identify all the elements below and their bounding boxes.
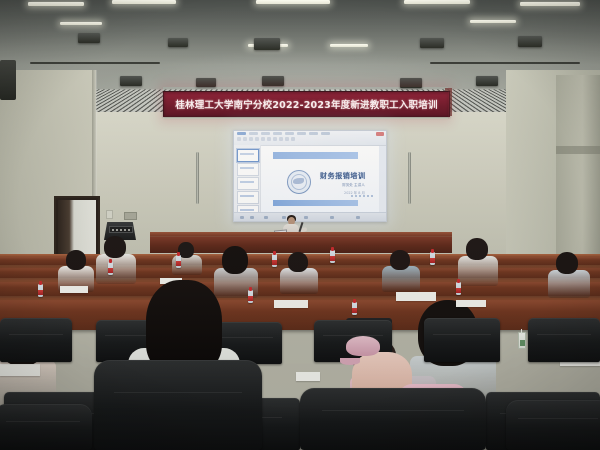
- paper-document: [396, 292, 436, 301]
- water-bottle: [272, 254, 277, 267]
- water-bottle: [430, 252, 435, 265]
- ppt-tab: [261, 132, 270, 135]
- slide-subtitle-2: 2022 年 8 月: [344, 190, 365, 195]
- screen-rail-left: [196, 152, 199, 204]
- ceiling-light-icon: [520, 2, 580, 6]
- status-icon: [282, 216, 286, 219]
- ceiling-projector-icon: [254, 38, 280, 50]
- water-bottle: [38, 284, 43, 297]
- attendee-row3-c-head: [390, 250, 410, 270]
- ppt-tab: [309, 132, 318, 135]
- ceiling-speaker-icon: [168, 38, 188, 47]
- decor-dot: [363, 195, 366, 198]
- pink-cap: [346, 336, 380, 356]
- status-icon: [356, 216, 360, 219]
- ppt-tab: [285, 132, 294, 135]
- water-bottle: [108, 262, 113, 275]
- toolbar-icon: [273, 137, 277, 141]
- ceiling-light-icon: [404, 0, 470, 4]
- ppt-ribbon: [234, 131, 386, 146]
- slide-thumbnail: [237, 163, 259, 176]
- attendee-row2-right-head: [466, 238, 488, 260]
- ceiling-light-icon: [28, 2, 84, 6]
- ceiling-speaker-icon: [476, 76, 498, 86]
- seal-emblem: [293, 178, 304, 184]
- right-column-ledge: [556, 146, 600, 154]
- wall-speaker-icon: [0, 60, 16, 100]
- wall-outlet-plate: [124, 212, 137, 220]
- attendee-row2-right-body: [458, 256, 498, 286]
- slide-thumbnail: [237, 191, 259, 204]
- ceiling-speaker-icon: [420, 38, 444, 48]
- paper-document: [456, 300, 486, 307]
- status-icon: [250, 216, 254, 219]
- chair[interactable]: [528, 318, 600, 362]
- toolbar-icon: [279, 137, 283, 141]
- pink-cap-brim: [340, 358, 360, 365]
- ppt-tab: [297, 132, 306, 135]
- decor-dot: [371, 195, 374, 198]
- attendee-row2-left-head: [104, 236, 126, 258]
- slide-decor-dots: [351, 195, 374, 198]
- water-bottle: [352, 302, 357, 315]
- ppt-slide-panel: [234, 145, 261, 213]
- water-bottle: [176, 255, 181, 268]
- thumb-bar: [240, 195, 254, 197]
- foreground-chair[interactable]: [506, 400, 600, 450]
- water-bottle: [248, 290, 253, 303]
- ceiling-light-icon: [470, 20, 516, 23]
- toolbar-icon: [255, 137, 259, 141]
- ppt-tab: [321, 132, 330, 135]
- paper-document: [60, 286, 88, 293]
- university-seal-icon: [287, 170, 311, 194]
- screen-rail-right: [408, 152, 411, 204]
- thumb-bar: [240, 153, 254, 155]
- slide-subtitle-1: 财务处 主讲人: [342, 183, 365, 188]
- slide-bottom-accent-bar: [273, 200, 358, 206]
- ceiling-speaker-icon: [196, 78, 216, 87]
- toolbar-icon: [291, 137, 295, 141]
- thumb-bar: [240, 181, 254, 183]
- ppt-tab: [237, 132, 246, 135]
- light-switch[interactable]: [106, 210, 113, 219]
- ceiling-light-icon: [330, 44, 368, 47]
- ppt-tab: [273, 132, 282, 135]
- podium-button-icon[interactable]: [128, 229, 130, 231]
- podium-control-panel[interactable]: [109, 226, 133, 233]
- foreground-chair[interactable]: [94, 360, 262, 450]
- ceiling-speaker-icon: [400, 78, 422, 88]
- paper-document: [274, 300, 308, 308]
- attendee-front-center-hair: [146, 280, 222, 372]
- ceiling-speaker-icon: [78, 33, 100, 43]
- ceiling-projector-icon: [120, 76, 142, 86]
- slide-title: 财务报销培训: [320, 171, 366, 181]
- toolbar-icon: [243, 137, 247, 141]
- decor-dot: [367, 195, 370, 198]
- attendee-row4-b-body: [548, 270, 590, 298]
- ppt-tab-row: [237, 132, 330, 135]
- ceiling-rail: [430, 62, 580, 64]
- ceiling-light-icon: [256, 0, 330, 4]
- ppt-status-bar: [234, 212, 386, 221]
- status-icon: [330, 216, 334, 219]
- thumb-bar: [240, 167, 254, 169]
- podium-button-icon[interactable]: [120, 229, 122, 231]
- ceiling-light-icon: [112, 0, 176, 4]
- attendee-row3-b-head: [288, 252, 308, 272]
- podium-button-icon[interactable]: [112, 229, 114, 231]
- conference-room-photo: 桂林理工大学南宁分校2022-2023年度新进教职工入职培训: [0, 0, 600, 450]
- status-icon: [240, 216, 244, 219]
- chair[interactable]: [0, 318, 72, 362]
- thumb-bar: [240, 209, 254, 211]
- status-icon: [264, 216, 268, 219]
- toolbar-icon: [261, 137, 265, 141]
- water-bottle: [330, 250, 335, 263]
- podium-button-icon[interactable]: [116, 229, 118, 231]
- drink-carton: [518, 332, 526, 349]
- ppt-slide-canvas: 财务报销培训 财务处 主讲人 2022 年 8 月: [261, 146, 379, 212]
- projection-screen: 财务报销培训 财务处 主讲人 2022 年 8 月: [233, 130, 387, 222]
- status-icon: [304, 216, 308, 219]
- decor-dot: [351, 195, 354, 198]
- attendee-row3-a-head: [66, 250, 86, 270]
- decor-dot: [359, 195, 362, 198]
- foreground-chair[interactable]: [0, 404, 92, 450]
- ppt-toolbar-icons: [237, 137, 295, 141]
- paper-document: [0, 364, 40, 376]
- close-icon: [376, 132, 384, 136]
- ceiling-light-icon: [60, 22, 102, 25]
- ppt-tab: [249, 132, 258, 135]
- podium-button-icon[interactable]: [124, 229, 126, 231]
- foreground-chair[interactable]: [300, 388, 486, 450]
- front-table: [150, 236, 452, 253]
- event-banner-text: 桂林理工大学南宁分校2022-2023年度新进教职工入职培训: [175, 97, 437, 111]
- slide-thumbnail: [237, 149, 259, 162]
- ceiling-rail: [30, 62, 160, 64]
- slide-top-accent-bar: [273, 152, 358, 159]
- toolbar-icon: [249, 137, 253, 141]
- decor-dot: [355, 195, 358, 198]
- attendee-row4-b-head: [556, 252, 578, 274]
- chair[interactable]: [424, 318, 500, 362]
- attendee-row2-left-body: [96, 254, 136, 284]
- ceiling-speaker-icon: [518, 36, 542, 47]
- toolbar-icon: [285, 137, 289, 141]
- paper-document: [296, 372, 320, 381]
- event-banner: 桂林理工大学南宁分校2022-2023年度新进教职工入职培训: [163, 91, 450, 117]
- slide-thumbnail: [237, 177, 259, 190]
- toolbar-icon: [267, 137, 271, 141]
- water-bottle: [456, 282, 461, 295]
- toolbar-icon: [237, 137, 241, 141]
- attendee-row2-darkhair-head: [222, 246, 248, 274]
- ceiling-speaker-icon: [262, 76, 284, 86]
